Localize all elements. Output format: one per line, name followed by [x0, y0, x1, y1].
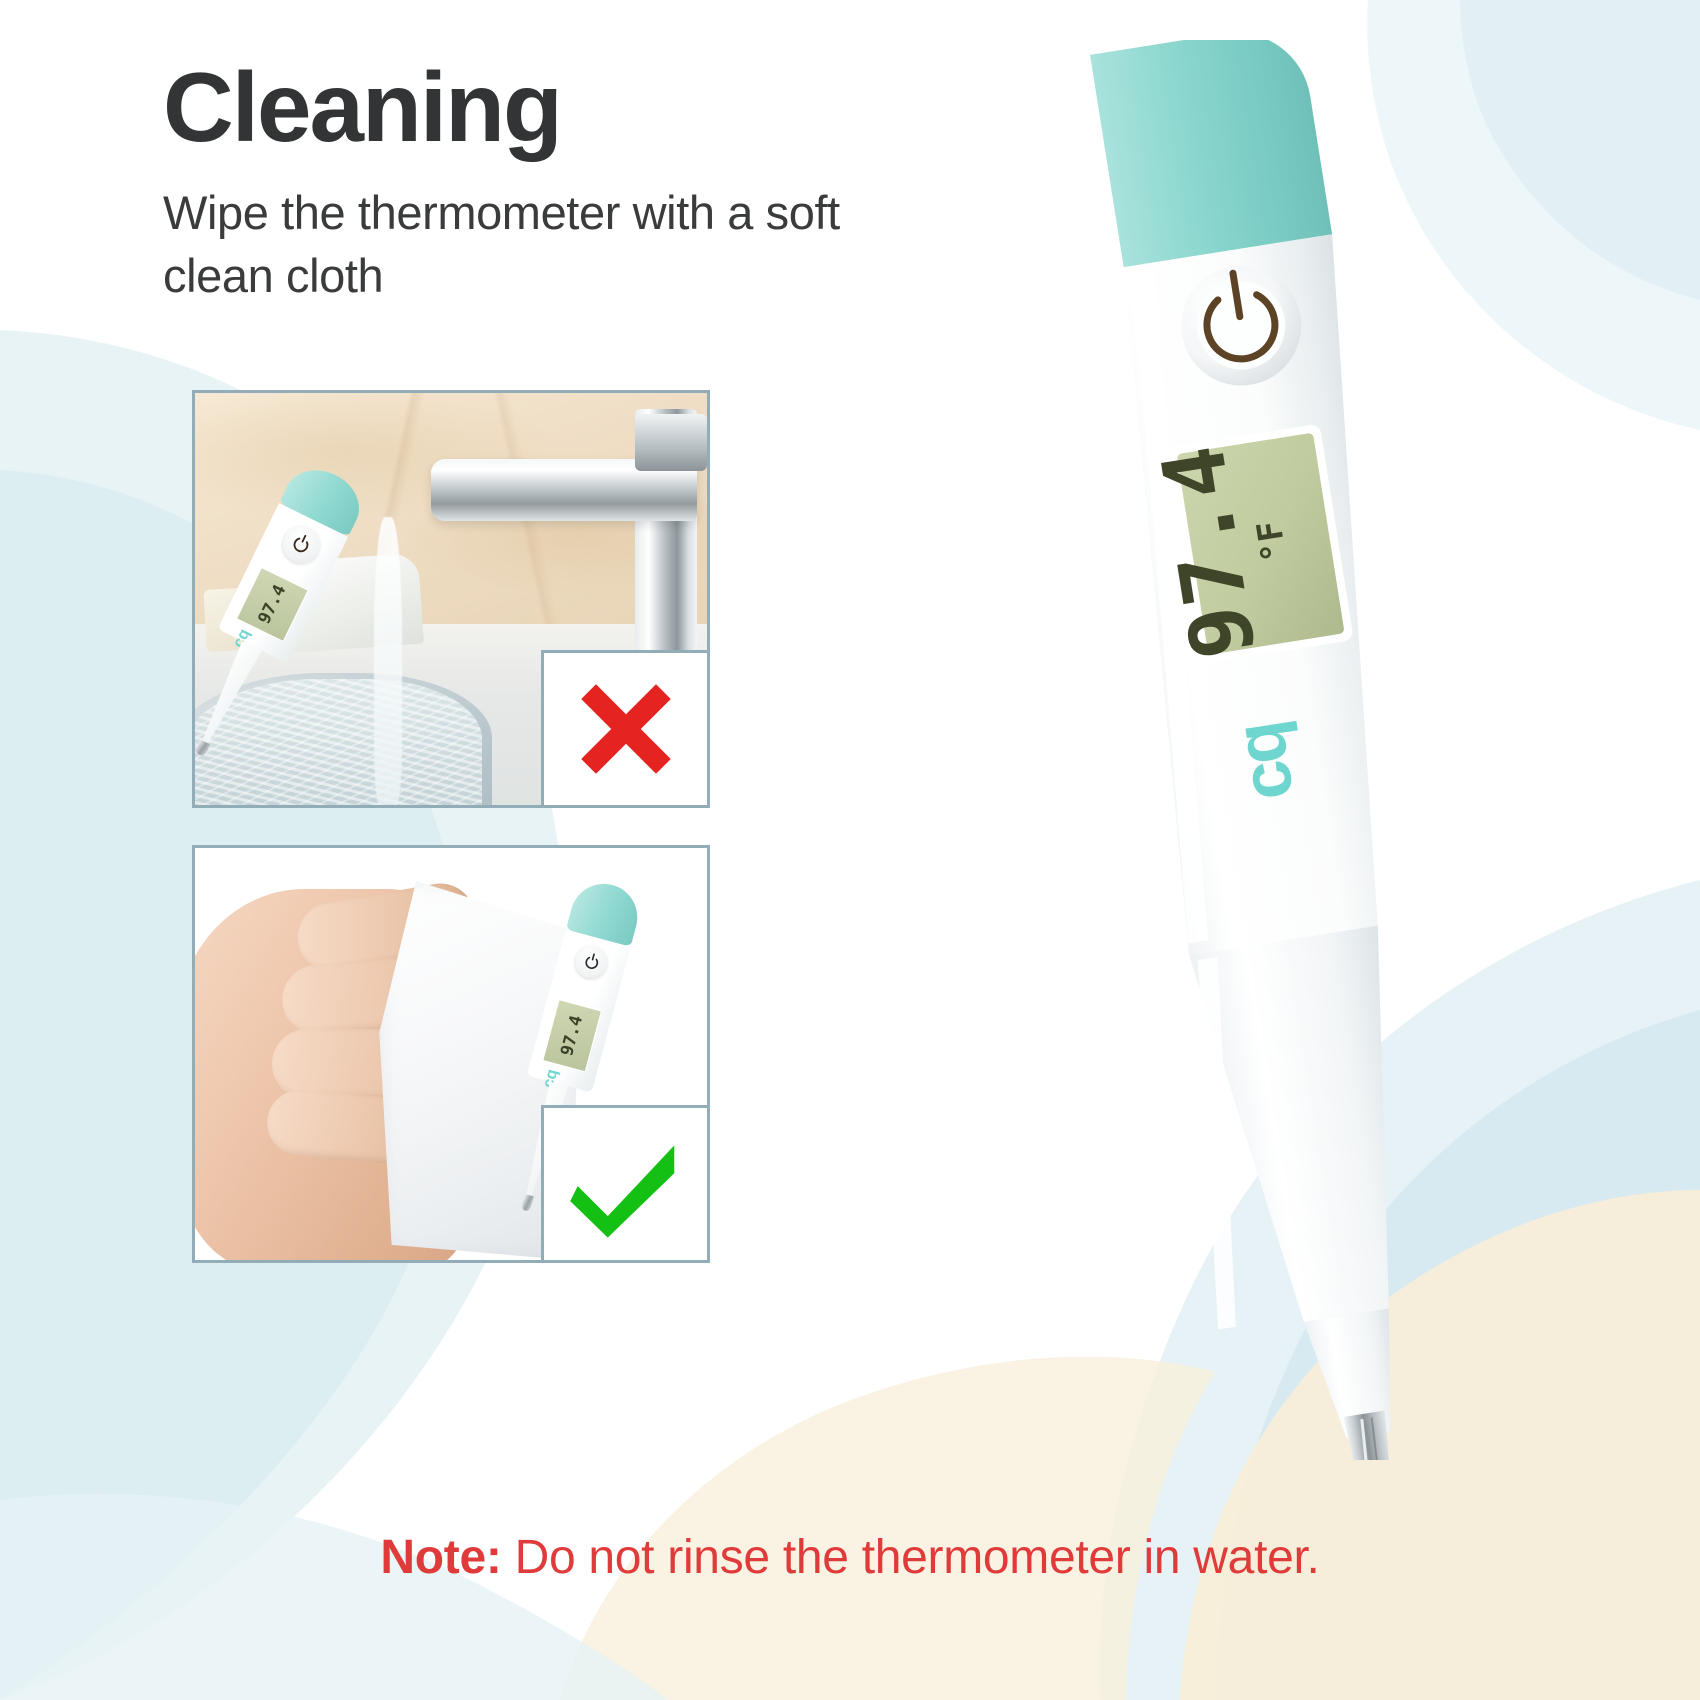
thermometer-cap	[1090, 40, 1332, 267]
status-badge-not-allowed	[541, 650, 710, 808]
faucet-head	[635, 414, 707, 472]
mini-lcd-display: 97.4	[542, 999, 602, 1072]
status-badge-allowed	[541, 1105, 710, 1263]
note-label: Note:	[380, 1531, 501, 1584]
note-text: Do not rinse the thermometer in water.	[502, 1531, 1320, 1584]
page-subtitle: Wipe the thermometer with a soft clean c…	[163, 182, 953, 307]
power-icon	[572, 942, 611, 981]
cross-icon	[571, 674, 681, 784]
brand-logo: cq	[1219, 719, 1308, 806]
lcd-display: 97.4 °F	[1143, 423, 1354, 667]
check-icon	[567, 1129, 685, 1239]
mini-lcd-value: 97.4	[255, 582, 291, 628]
lcd-unit: °F	[1249, 518, 1295, 565]
page-title: Cleaning	[163, 58, 953, 156]
note-line: Note: Do not rinse the thermometer in wa…	[0, 1530, 1700, 1585]
power-icon	[277, 520, 326, 569]
water-stream	[374, 517, 402, 805]
mini-lcd-value: 97.4	[557, 1013, 587, 1058]
header-block: Cleaning Wipe the thermometer with a sof…	[163, 58, 953, 307]
